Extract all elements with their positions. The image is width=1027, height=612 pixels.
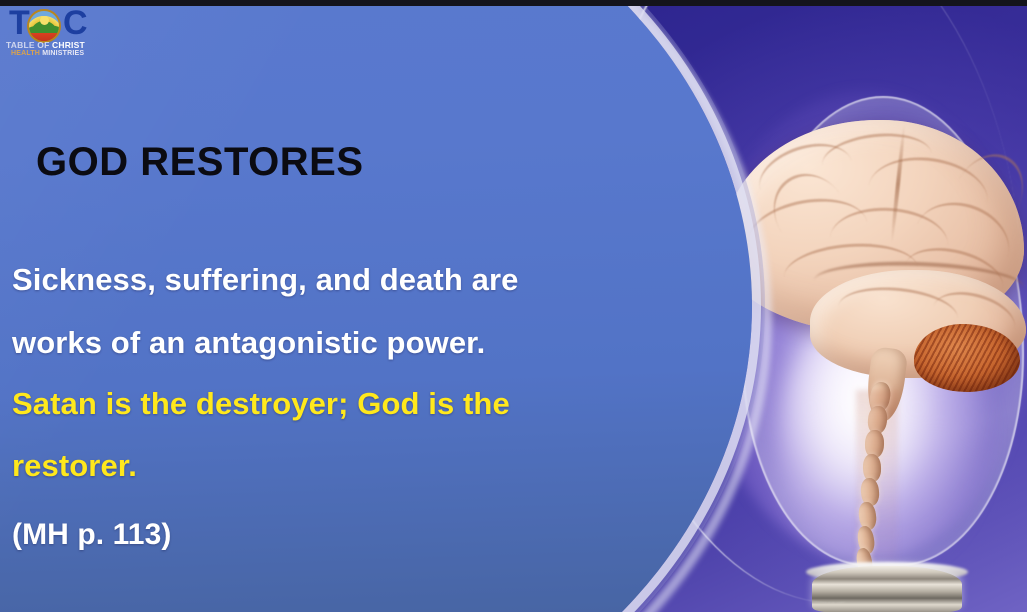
letterbox-bar-top (0, 0, 1027, 6)
slide-body-line-3: Satan is the destroyer; God is the (12, 386, 510, 422)
presentation-slide: T C TABLE OF CHRIST HEALTH MINISTRIES GO… (0, 0, 1027, 612)
slide-body-line-4: restorer. (12, 448, 137, 484)
slide-citation: (MH p. 113) (12, 518, 171, 552)
slide-body-line-1: Sickness, suffering, and death are (12, 262, 518, 298)
slide-title: GOD RESTORES (36, 140, 364, 185)
slide-text-block: GOD RESTORES Sickness, suffering, and de… (0, 0, 660, 612)
slide-body-line-2: works of an antagonistic power. (12, 325, 485, 361)
